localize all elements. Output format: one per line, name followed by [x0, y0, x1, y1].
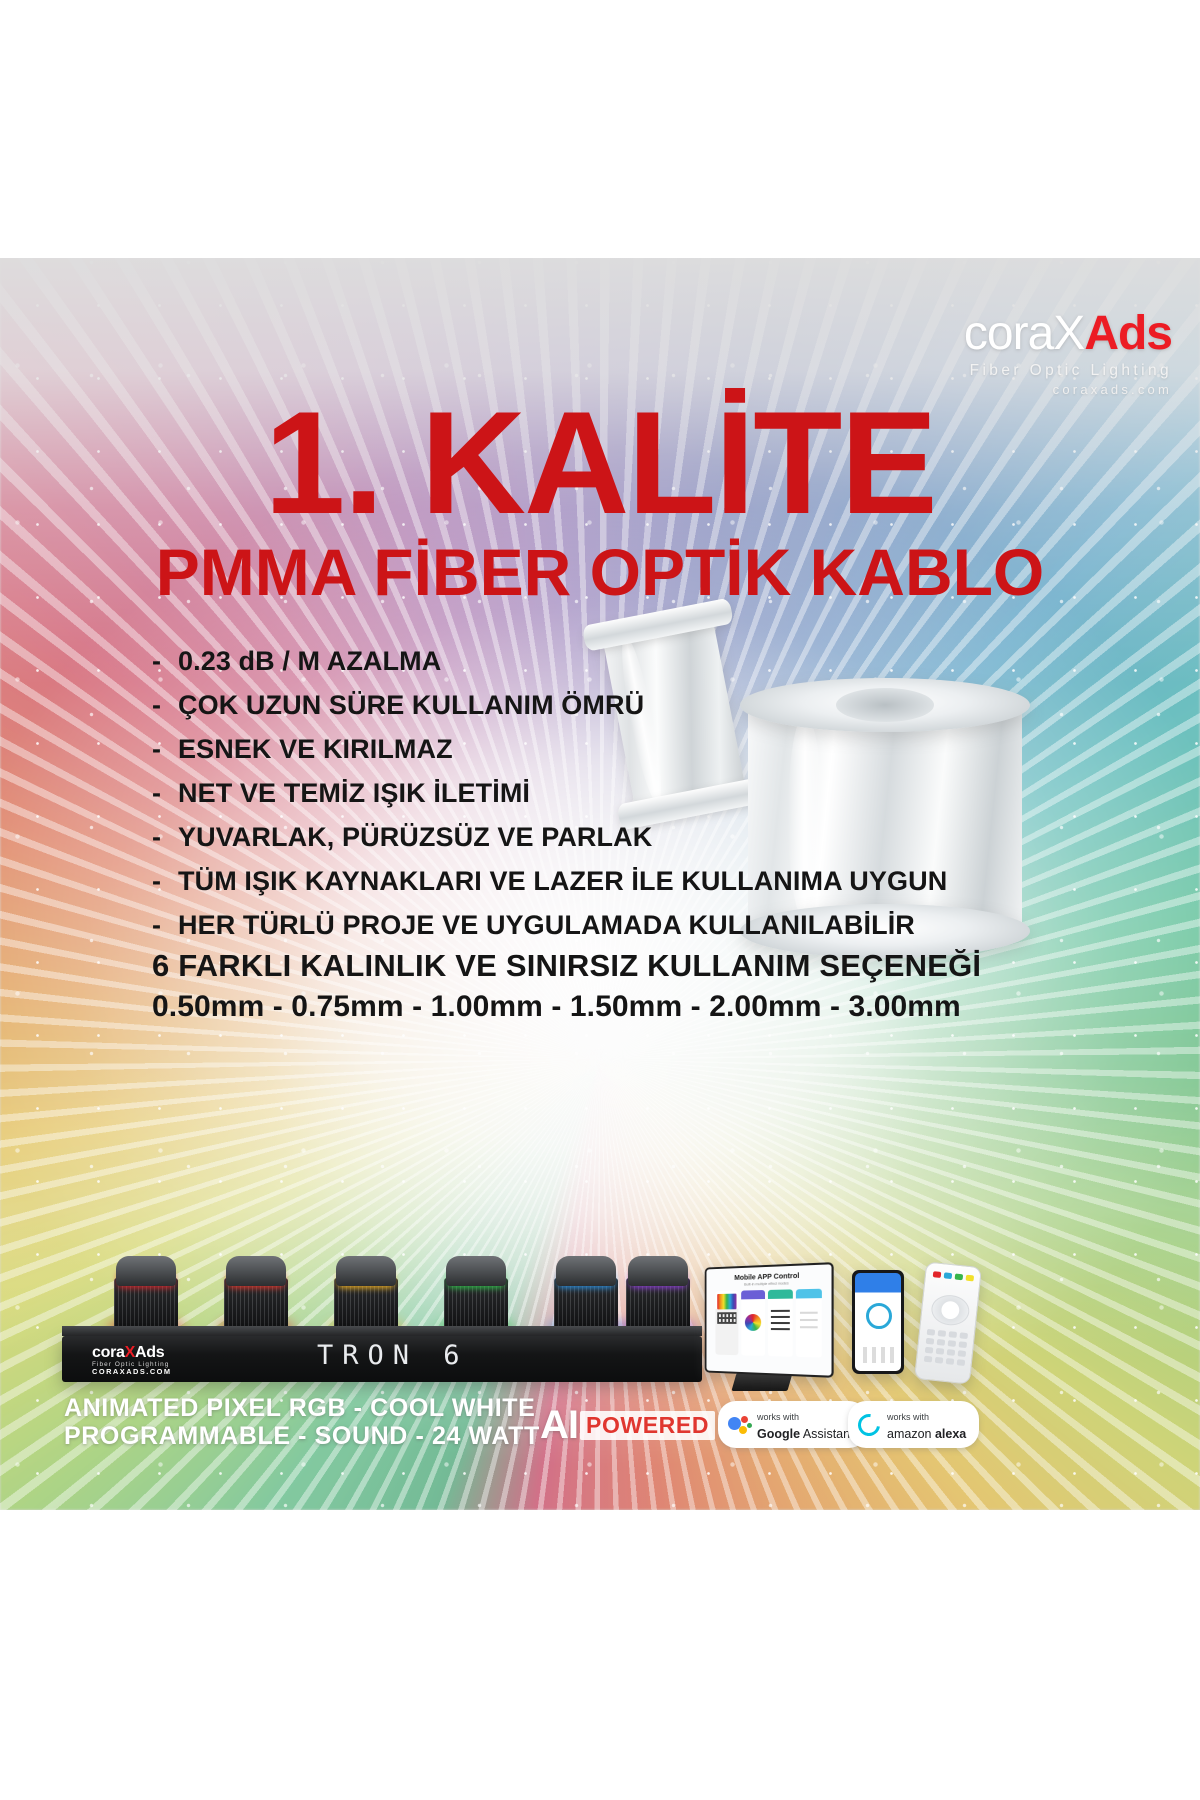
led-spill	[438, 1320, 514, 1336]
brand-name-x: X	[1053, 307, 1084, 360]
led-spill	[108, 1320, 184, 1336]
tron6-device: coraXAds Fiber Optic Lighting CORAXADS.C…	[62, 1252, 702, 1382]
small-spool-sheen	[615, 634, 669, 805]
large-spool-gloss	[788, 714, 822, 920]
large-spool-flange-bottom	[740, 904, 1030, 958]
large-spool-core	[748, 704, 1022, 930]
center-light-wash	[0, 258, 1200, 1510]
remote-keypad	[924, 1329, 968, 1366]
fiber-burst-background	[0, 258, 1200, 1510]
led-engine-base	[334, 1278, 398, 1328]
app-screen-effects	[767, 1289, 792, 1356]
led-glow	[228, 1272, 284, 1288]
remote-control	[914, 1261, 982, 1384]
feature-text: TÜM IŞIK KAYNAKLARI VE LAZER İLE KULLANI…	[178, 866, 947, 897]
letterbox-top	[0, 0, 1200, 258]
google-badge-line2: Google Assistant	[757, 1427, 854, 1441]
large-spool-hub	[836, 688, 934, 722]
list-item: - HER TÜRLÜ PROJE VE UYGULAMADA KULLANIL…	[152, 910, 947, 941]
tablet-subtitle: Built-in multiple effect modes	[706, 1280, 831, 1287]
bullet-dash-icon: -	[152, 866, 178, 897]
feature-text: NET VE TEMİZ IŞIK İLETİMİ	[178, 778, 530, 809]
fiber-spool-photo	[600, 608, 1020, 1008]
phone-slider-rows	[863, 1347, 897, 1363]
google-badge-text: works with Google Assistant	[757, 1407, 854, 1442]
caption-line-1: ANIMATED PIXEL RGB - COOL WHITE	[64, 1394, 540, 1422]
device-brand-tagline: Fiber Optic Lighting	[92, 1362, 172, 1369]
feature-text: ESNEK VE KIRILMAZ	[178, 734, 453, 765]
tablet-mockup: Mobile APP Control Built-in multiple eff…	[700, 1265, 832, 1375]
led-glow	[118, 1272, 174, 1288]
led-engine-cap	[116, 1256, 176, 1286]
large-spool-flange-top	[740, 678, 1030, 732]
fiber-rays-overlay	[0, 258, 1200, 1510]
artwork-canvas: coraXAds Fiber Optic Lighting coraxads.c…	[0, 258, 1200, 1510]
alexa-badge-line1: works with	[887, 1412, 929, 1422]
poster-root: coraXAds Fiber Optic Lighting coraxads.c…	[0, 0, 1200, 1800]
remote-dial	[930, 1293, 971, 1327]
bullet-dash-icon: -	[152, 822, 178, 853]
led-engine-base	[444, 1278, 508, 1328]
letterbox-bottom	[0, 1510, 1200, 1800]
list-item: - ÇOK UZUN SÜRE KULLANIM ÖMRÜ	[152, 690, 947, 721]
small-spool-flange-top	[582, 598, 734, 652]
small-spool	[581, 596, 768, 831]
led-glow	[630, 1272, 686, 1288]
phone-dial-control	[866, 1303, 892, 1329]
bullet-dash-icon: -	[152, 778, 178, 809]
list-item: - 0.23 dB / M AZALMA	[152, 646, 947, 677]
feature-text: HER TÜRLÜ PROJE VE UYGULAMADA KULLANILAB…	[178, 910, 915, 941]
remote-color-buttons	[933, 1271, 974, 1281]
list-item: - ESNEK VE KIRILMAZ	[152, 734, 947, 765]
headline-block: 1. KALİTE PMMA FİBER OPTİK KABLO	[0, 394, 1200, 605]
led-engine-cap	[226, 1256, 286, 1286]
feature-text: 0.23 dB / M AZALMA	[178, 646, 441, 677]
google-assistant-icon	[728, 1414, 750, 1436]
remote-body	[914, 1261, 982, 1384]
list-item: - YUVARLAK, PÜRÜZSÜZ VE PARLAK	[152, 822, 947, 853]
ai-powered-badge: AI POWERED	[540, 1403, 715, 1448]
tablet-screen: Mobile APP Control Built-in multiple eff…	[705, 1262, 834, 1378]
led-engine-cap	[336, 1256, 396, 1286]
led-engine	[216, 1250, 296, 1328]
feature-text: ÇOK UZUN SÜRE KULLANIM ÖMRÜ	[178, 690, 644, 721]
led-glow	[558, 1272, 614, 1288]
amazon-alexa-badge: works with amazon alexa	[848, 1401, 979, 1448]
led-spill	[328, 1320, 404, 1336]
device-brand-x: X	[125, 1344, 135, 1361]
led-engine	[326, 1250, 406, 1328]
tablet-title: Mobile APP Control	[706, 1270, 831, 1283]
app-screen-colorwheel	[741, 1290, 765, 1356]
tron6-bar: coraXAds Fiber Optic Lighting CORAXADS.C…	[62, 1336, 702, 1382]
alexa-icon	[854, 1409, 885, 1440]
led-glow	[338, 1272, 394, 1288]
led-engine-base	[626, 1278, 690, 1328]
tablet-stand	[731, 1373, 792, 1391]
feature-list: - 0.23 dB / M AZALMA - ÇOK UZUN SÜRE KUL…	[152, 646, 947, 954]
sizes-values: 0.50mm - 0.75mm - 1.00mm - 1.50mm - 2.00…	[152, 990, 981, 1024]
led-engine	[546, 1250, 626, 1328]
phone-screen	[855, 1273, 901, 1371]
sizes-heading: 6 FARKLI KALINLIK VE SINIRSIZ KULLANIM S…	[152, 948, 981, 984]
led-spill	[548, 1320, 624, 1336]
brand-tagline: Fiber Optic Lighting	[964, 363, 1172, 379]
caption-line-2: PROGRAMMABLE - SOUND - 24 WATT	[64, 1422, 540, 1450]
bullet-dash-icon: -	[152, 734, 178, 765]
device-brand-logo: coraXAds Fiber Optic Lighting CORAXADS.C…	[92, 1345, 172, 1376]
headline-secondary: PMMA FİBER OPTİK KABLO	[0, 539, 1200, 605]
led-spill	[620, 1320, 696, 1336]
phone-body	[852, 1270, 904, 1374]
phone-mockup	[852, 1270, 904, 1374]
device-model-name: TRON 6	[317, 1340, 469, 1371]
ai-badge-prefix: AI	[540, 1403, 578, 1448]
google-badge-brand: Google	[757, 1427, 800, 1441]
google-badge-product: Assistant	[800, 1427, 854, 1441]
led-engine-base	[224, 1278, 288, 1328]
tron6-bar-top	[62, 1326, 702, 1336]
sparkle-overlay	[0, 258, 1200, 1510]
list-item: - NET VE TEMİZ IŞIK İLETİMİ	[152, 778, 947, 809]
list-item: - TÜM IŞIK KAYNAKLARI VE LAZER İLE KULLA…	[152, 866, 947, 897]
bullet-dash-icon: -	[152, 690, 178, 721]
small-spool-body	[602, 615, 746, 811]
brand-wordmark: coraXAds	[964, 310, 1172, 358]
led-engine-cap	[446, 1256, 506, 1286]
brand-url: coraxads.com	[964, 383, 1172, 396]
headline-primary: 1. KALİTE	[0, 394, 1200, 533]
alexa-badge-vendor: amazon	[887, 1427, 935, 1441]
device-brand-url: CORAXADS.COM	[92, 1368, 172, 1376]
small-spool-flange-bottom	[616, 776, 768, 830]
brand-name-red: Ads	[1084, 307, 1172, 360]
sizes-block: 6 FARKLI KALINLIK VE SINIRSIZ KULLANIM S…	[152, 948, 981, 1024]
alexa-badge-text: works with amazon alexa	[887, 1407, 966, 1442]
device-brand-light: cora	[92, 1344, 125, 1361]
led-glow	[448, 1272, 504, 1288]
led-spill	[218, 1320, 294, 1336]
google-assistant-badge: works with Google Assistant	[718, 1401, 867, 1448]
brand-logo: coraXAds Fiber Optic Lighting coraxads.c…	[964, 310, 1172, 396]
top-haze-overlay	[0, 258, 1200, 1510]
led-engine-base	[554, 1278, 618, 1328]
led-engine	[106, 1250, 186, 1328]
led-engine-cap	[628, 1256, 688, 1286]
led-engine	[436, 1250, 516, 1328]
alexa-badge-brand: alexa	[935, 1427, 966, 1441]
led-engine	[618, 1250, 698, 1328]
bullet-dash-icon: -	[152, 910, 178, 941]
large-spool	[740, 678, 1030, 978]
led-engine-cap	[556, 1256, 616, 1286]
alexa-badge-line2: amazon alexa	[887, 1427, 966, 1441]
feature-text: YUVARLAK, PÜRÜZSÜZ VE PARLAK	[178, 822, 652, 853]
app-screen-settings	[795, 1289, 821, 1358]
google-badge-line1: works with	[757, 1412, 799, 1422]
led-engine-base	[114, 1278, 178, 1328]
tablet-app-screens	[706, 1288, 831, 1357]
brand-name-light: cora	[964, 307, 1053, 360]
bullet-dash-icon: -	[152, 646, 178, 677]
product-caption: ANIMATED PIXEL RGB - COOL WHITE PROGRAMM…	[64, 1394, 540, 1450]
product-showcase-band: coraXAds Fiber Optic Lighting CORAXADS.C…	[0, 1250, 1200, 1510]
ai-badge-suffix: POWERED	[580, 1411, 715, 1440]
device-brand-wordmark: coraXAds	[92, 1345, 172, 1362]
device-brand-red: Ads	[135, 1344, 164, 1361]
app-screen-palette	[715, 1291, 738, 1356]
